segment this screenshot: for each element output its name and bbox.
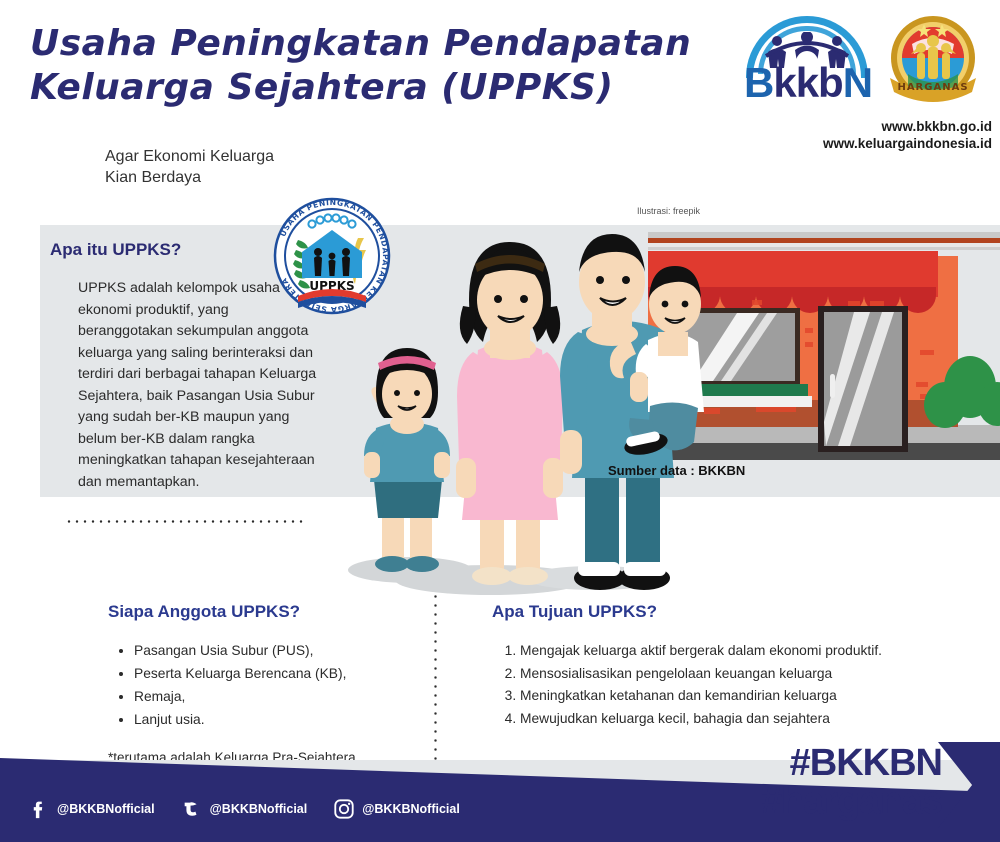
logo-area: BkkbN HARGANAS www.bkkbn.go.id [742,14,992,174]
goals-title: Apa Tujuan UPPKS? [492,602,962,622]
list-item: Mewujudkan keluarga kecil, bahagia dan s… [520,708,962,730]
footer: #BKKBN #harganas @BKKBNofficial @BKKBNof… [0,742,1000,842]
tagline-line1: Agar Ekonomi Keluarga [105,146,274,167]
list-item: Lanjut usia. [134,709,438,730]
instagram-handle[interactable]: @BKKBNofficial [362,802,460,816]
tagline: Agar Ekonomi Keluarga Kian Berdaya [105,146,274,188]
tagline-line2: Kian Berdaya [105,167,274,188]
facebook-handle[interactable]: @BKKBNofficial [57,802,155,816]
family-illustration [330,180,1000,600]
page-title-line1: Usaha Peningkatan Pendapatan [30,22,730,66]
url-bkkbn[interactable]: www.bkkbn.go.id [742,118,992,135]
social-links: @BKKBNofficial @BKKBNofficial @BKKBNoffi… [28,798,460,820]
twitter-handle[interactable]: @BKKBNofficial [210,802,308,816]
list-item: Meningkatkan ketahanan dan kemandirian k… [520,685,962,707]
girl-figure [364,348,450,572]
dotted-divider-horizontal [65,520,307,523]
source-label: Sumber data : BKKBN [608,463,745,478]
members-list: Pasangan Usia Subur (PUS), Peserta Kelua… [108,640,438,730]
page-title: Usaha Peningkatan Pendapatan Keluarga Se… [30,22,730,110]
twitter-icon[interactable] [181,798,203,820]
members-section: Siapa Anggota UPPKS? Pasangan Usia Subur… [108,602,438,765]
hashtag-harganas: #harganas [761,782,942,820]
goals-section: Apa Tujuan UPPKS? Mengajak keluarga akti… [492,602,962,730]
url-keluargaindonesia[interactable]: www.keluargaindonesia.id [742,135,992,152]
list-item: Pasangan Usia Subur (PUS), [134,640,438,661]
bkkbn-wordmark: BkkbN [744,62,872,104]
list-item: Mengajak keluarga aktif bergerak dalam e… [520,640,962,662]
page-title-line2: Keluarga Sejahtera (UPPKS) [30,66,730,110]
list-item: Peserta Keluarga Berencana (KB), [134,663,438,684]
facebook-icon[interactable] [28,798,50,820]
goals-list: Mengajak keluarga aktif bergerak dalam e… [492,640,962,729]
mother-figure [456,242,563,585]
list-item: Remaja, [134,686,438,707]
hashtags: #BKKBN #harganas [761,744,942,820]
about-title: Apa itu UPPKS? [50,240,181,260]
infographic-page: Usaha Peningkatan Pendapatan Keluarga Se… [0,0,1000,842]
list-item: Mensosialisasikan pengelolaan keuangan k… [520,663,962,685]
instagram-icon[interactable] [333,798,355,820]
website-urls: www.bkkbn.go.id www.keluargaindonesia.id [742,118,992,152]
social-twitter[interactable]: @BKKBNofficial [181,798,308,820]
social-facebook[interactable]: @BKKBNofficial [28,798,155,820]
bkkbn-logo: BkkbN [742,14,872,110]
svg-text:HARGANAS: HARGANAS [897,82,968,93]
uppks-seal: USAHA PENINGKATAN PENDAPATAN KELUARGA SE… [272,196,392,316]
hashtag-bkkbn: #BKKBN [761,744,942,782]
harganas-logo: HARGANAS [878,14,988,110]
social-instagram[interactable]: @BKKBNofficial [333,798,460,820]
members-title: Siapa Anggota UPPKS? [108,602,438,622]
